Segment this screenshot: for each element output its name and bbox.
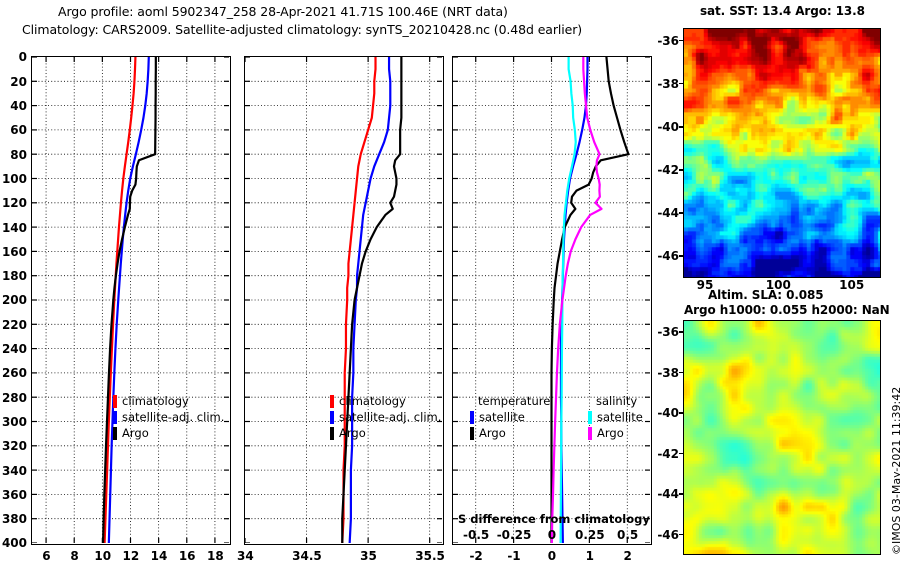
salinity-xtick-2: 35 <box>347 549 391 563</box>
legend-label-argo: Argo <box>122 426 149 440</box>
depth-tick-240: 240 <box>0 342 27 356</box>
sst-xtick-2: 105 <box>832 278 872 292</box>
depth-tick-200: 200 <box>0 293 27 307</box>
legend-label-satellite-adj: satellite-adj. clim. <box>339 410 441 424</box>
legend-swatch-climatology <box>330 395 334 408</box>
legend-swatch-sal-satellite <box>588 411 592 424</box>
sla-ytick-2: -40 <box>651 406 679 420</box>
depth-tick-320: 320 <box>0 439 27 453</box>
depth-tick-40: 40 <box>0 99 27 113</box>
sst-ytick-mark-1 <box>679 83 684 84</box>
depth-tick-80: 80 <box>0 148 27 162</box>
depth-tick-140: 140 <box>0 221 27 235</box>
depth-tick-220: 220 <box>0 318 27 332</box>
sla-ytick-mark-0 <box>679 331 684 332</box>
sst-ytick-4: -44 <box>651 206 679 220</box>
depth-tick-0: 0 <box>0 50 27 64</box>
sla-ytick-1: -38 <box>651 366 679 380</box>
legend-label-climatology: climatology <box>122 394 189 408</box>
depth-tick-340: 340 <box>0 464 27 478</box>
sla-ytick-4: -44 <box>651 487 679 501</box>
sst-ytick-mark-0 <box>679 40 684 41</box>
sst-ytick-0: -36 <box>651 34 679 48</box>
depth-tick-60: 60 <box>0 123 27 137</box>
legend-label-temp-satellite: satellite <box>479 410 525 424</box>
legend-label-climatology: climatology <box>339 394 406 408</box>
difference-salinity-xtick-4: 0.5 <box>606 528 650 542</box>
sst-ytick-3: -42 <box>651 163 679 177</box>
difference-axis-title: S difference from climatology <box>458 512 650 526</box>
depth-tick-160: 160 <box>0 245 27 259</box>
depth-tick-260: 260 <box>0 366 27 380</box>
legend-swatch-temp-argo <box>470 427 474 440</box>
salinity-xtick-1: 34.5 <box>285 549 329 563</box>
sla-ytick-mark-2 <box>679 412 684 413</box>
salinity-xtick-3: 35.5 <box>408 549 452 563</box>
sst-ytick-1: -38 <box>651 77 679 91</box>
sla-ytick-mark-1 <box>679 372 684 373</box>
depth-tick-120: 120 <box>0 196 27 210</box>
difference-profile-panel <box>452 56 652 545</box>
sst-ytick-5: -46 <box>651 249 679 263</box>
legend-swatch-climatology <box>113 395 117 408</box>
legend-swatch-satellite-adj <box>113 411 117 424</box>
sst-ytick-2: -40 <box>651 120 679 134</box>
depth-tick-400: 400 <box>0 536 27 550</box>
depth-tick-100: 100 <box>0 172 27 186</box>
sla-ytick-mark-5 <box>679 534 684 535</box>
sst-xtick-1: 100 <box>758 278 798 292</box>
depth-tick-180: 180 <box>0 269 27 283</box>
legend-swatch-temp-satellite <box>470 411 474 424</box>
sst-ytick-mark-4 <box>679 212 684 213</box>
credit-text: ©IMOS 03-May-2021 11:39:42 <box>890 387 900 555</box>
sla-map[interactable] <box>683 320 881 555</box>
legend-swatch-satellite-adj <box>330 411 334 424</box>
legend-label-sal-argo: Argo <box>597 426 624 440</box>
sla-ytick-5: -46 <box>651 528 679 542</box>
depth-tick-20: 20 <box>0 75 27 89</box>
legend-label-satellite-adj: satellite-adj. clim. <box>122 410 224 424</box>
page-title-line2: Climatology: CARS2009. Satellite-adjuste… <box>22 22 582 37</box>
sst-xtick-0: 95 <box>685 278 725 292</box>
difference-legend-salinity: salinity satellite Argo <box>588 394 637 442</box>
sst-map[interactable] <box>683 28 881 278</box>
legend-label-argo: Argo <box>339 426 366 440</box>
temperature-profile-panel <box>31 56 231 545</box>
sst-map-title: sat. SST: 13.4 Argo: 13.8 <box>700 4 865 18</box>
sst-ytick-mark-5 <box>679 255 684 256</box>
difference-legend-temperature: temperature satellite Argo <box>470 394 550 442</box>
argo-h-title: Argo h1000: 0.055 h2000: NaN <box>684 303 890 317</box>
difference-legend-salinity-title: salinity <box>596 394 637 410</box>
depth-tick-300: 300 <box>0 415 27 429</box>
legend-swatch-argo <box>113 427 117 440</box>
page-title-line1: Argo profile: aoml 5902347_258 28-Apr-20… <box>58 4 508 19</box>
salinity-profile-panel <box>244 56 444 545</box>
sla-ytick-mark-3 <box>679 453 684 454</box>
sla-ytick-3: -42 <box>651 447 679 461</box>
sla-ytick-mark-4 <box>679 493 684 494</box>
sla-ytick-0: -36 <box>651 325 679 339</box>
difference-xtick-4: 2 <box>606 549 650 563</box>
legend-label-sal-satellite: satellite <box>597 410 643 424</box>
difference-legend-temperature-title: temperature <box>478 394 550 410</box>
legend-label-temp-argo: Argo <box>479 426 506 440</box>
sst-ytick-mark-2 <box>679 126 684 127</box>
depth-tick-360: 360 <box>0 488 27 502</box>
salinity-xtick-0: 34 <box>223 549 267 563</box>
legend-swatch-argo <box>330 427 334 440</box>
legend-swatch-sal-argo <box>588 427 592 440</box>
depth-tick-280: 280 <box>0 391 27 405</box>
sst-ytick-mark-3 <box>679 169 684 170</box>
depth-tick-380: 380 <box>0 512 27 526</box>
